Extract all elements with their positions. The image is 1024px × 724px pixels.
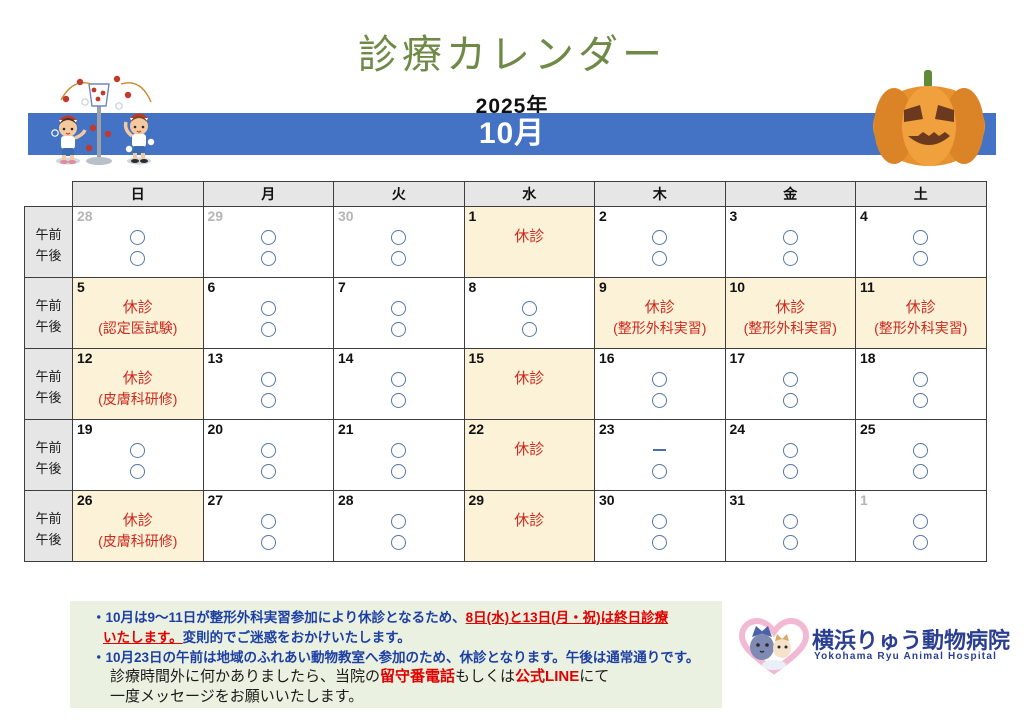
note-3-text-c: にて	[579, 668, 609, 685]
closed-reason: (皮膚科研修)	[73, 389, 203, 410]
day-number: 12	[77, 351, 93, 365]
pm-availability	[726, 460, 856, 481]
pm-availability	[204, 389, 334, 410]
calendar-day-cell[interactable]: 24	[725, 420, 856, 491]
day-number: 5	[77, 280, 85, 294]
pm-availability	[334, 460, 464, 481]
note-3-line-2: 一度メッセージをお願いいたします。	[110, 687, 363, 707]
availability-marks	[726, 368, 856, 410]
closed-reason: (整形外科実習)	[856, 318, 986, 339]
ampm-label-cell: 午前午後	[25, 278, 73, 349]
pm-label: 午後	[25, 529, 72, 550]
pm-availability	[856, 460, 986, 481]
circle-mark	[913, 251, 928, 266]
day-number: 1	[860, 493, 868, 507]
pm-availability	[73, 247, 203, 268]
day-number: 17	[730, 351, 746, 365]
day-number: 21	[338, 422, 354, 436]
am-availability	[204, 439, 334, 460]
weekday-header-sat: 土	[856, 182, 987, 207]
circle-mark	[522, 301, 537, 316]
day-number: 29	[469, 493, 485, 507]
circle-mark	[261, 301, 276, 316]
pm-availability	[856, 247, 986, 268]
day-number: 7	[338, 280, 346, 294]
availability-marks	[856, 439, 986, 481]
note-3-line-1: 診療時間外に何かありましたら、当院の留守番電話もしくは公式LINEにて	[110, 667, 609, 687]
am-availability	[595, 226, 725, 247]
circle-mark	[652, 372, 667, 387]
day-number: 3	[730, 209, 738, 223]
circle-mark	[783, 514, 798, 529]
am-availability	[856, 510, 986, 531]
closed-notice: 休診	[465, 510, 595, 531]
circle-mark	[130, 443, 145, 458]
circle-mark	[261, 535, 276, 550]
calendar-week-row: 午前午後5休診(認定医試験)6789休診(整形外科実習)10休診(整形外科実習)…	[25, 278, 987, 349]
note-3-text-a: 診療時間外に何かありましたら、当院の	[110, 668, 380, 685]
am-availability	[204, 510, 334, 531]
note-2: ・10月23日の午前は地域のふれあい動物教室へ参加のため、休診となります。午後は…	[92, 648, 699, 668]
availability-marks	[726, 439, 856, 481]
pm-availability	[726, 247, 856, 268]
circle-mark	[130, 464, 145, 479]
day-number: 14	[338, 351, 354, 365]
hospital-name-en: Yokohama Ryu Animal Hospital	[814, 651, 997, 662]
day-number: 18	[860, 351, 876, 365]
note-3-red-line: 公式LINE	[515, 668, 579, 685]
closed-notice: 休診(整形外科実習)	[856, 297, 986, 339]
circle-mark	[652, 230, 667, 245]
circle-mark	[391, 514, 406, 529]
am-label: 午前	[25, 508, 72, 529]
am-availability	[856, 226, 986, 247]
circle-mark	[913, 535, 928, 550]
day-number: 6	[208, 280, 216, 294]
day-number: 13	[208, 351, 224, 365]
circle-mark	[783, 393, 798, 408]
circle-mark	[913, 443, 928, 458]
circle-mark	[783, 372, 798, 387]
weekday-header-thu: 木	[595, 182, 726, 207]
note-1-highlight-2: いたします。	[103, 630, 183, 645]
calendar-day-cell[interactable]: 23	[595, 420, 726, 491]
circle-mark	[913, 372, 928, 387]
am-availability	[726, 226, 856, 247]
availability-marks	[465, 297, 595, 339]
circle-mark	[391, 393, 406, 408]
closed-label: 休診	[726, 297, 856, 318]
calendar-day-cell[interactable]: 10休診(整形外科実習)	[725, 278, 856, 349]
calendar-day-cell[interactable]: 29休診	[464, 491, 595, 562]
day-number: 10	[730, 280, 746, 294]
am-availability	[334, 368, 464, 389]
day-number: 2	[599, 209, 607, 223]
circle-mark	[783, 251, 798, 266]
day-number: 11	[860, 280, 875, 294]
availability-marks	[856, 226, 986, 268]
pm-availability	[73, 460, 203, 481]
calendar-day-cell[interactable]: 15休診	[464, 349, 595, 420]
day-number: 9	[599, 280, 607, 294]
am-label: 午前	[25, 224, 72, 245]
closed-label: 休診	[465, 226, 595, 247]
availability-marks	[334, 510, 464, 552]
day-number: 8	[469, 280, 477, 294]
day-number: 26	[77, 493, 93, 507]
calendar-day-cell[interactable]: 30	[595, 491, 726, 562]
note-1-line-1: ・10月は9〜11日が整形外科実習参加により休診となるため、8日(水)と13日(…	[92, 608, 668, 628]
am-availability	[595, 439, 725, 460]
availability-marks	[334, 368, 464, 410]
calendar-week-row: 午前午後2829301休診234	[25, 207, 987, 278]
availability-marks	[726, 510, 856, 552]
pm-availability	[595, 460, 725, 481]
calendar-day-cell[interactable]: 17	[725, 349, 856, 420]
availability-marks	[204, 297, 334, 339]
am-availability	[856, 439, 986, 460]
circle-mark	[391, 464, 406, 479]
circle-mark	[522, 322, 537, 337]
calendar-day-cell[interactable]: 14	[334, 349, 465, 420]
availability-marks	[595, 368, 725, 410]
pm-availability	[334, 247, 464, 268]
closed-notice: 休診(皮膚科研修)	[73, 510, 203, 552]
calendar-day-cell[interactable]: 29	[203, 207, 334, 278]
availability-marks	[204, 368, 334, 410]
day-number: 20	[208, 422, 224, 436]
closed-label: 休診	[465, 510, 595, 531]
calendar-day-cell[interactable]: 25	[856, 420, 987, 491]
jack-o-lantern-icon	[868, 66, 990, 170]
availability-marks	[73, 226, 203, 268]
circle-mark	[652, 514, 667, 529]
circle-mark	[652, 393, 667, 408]
circle-mark	[391, 322, 406, 337]
day-number: 28	[338, 493, 354, 507]
availability-marks	[334, 439, 464, 481]
pm-label: 午後	[25, 245, 72, 266]
pm-availability	[726, 531, 856, 552]
calendar-day-cell[interactable]: 6	[203, 278, 334, 349]
closed-label: 休診	[73, 368, 203, 389]
note-1-text-a: ・10月は9〜11日が整形外科実習参加により休診となるため、	[92, 610, 466, 625]
day-number: 31	[730, 493, 746, 507]
calendar-day-cell[interactable]: 22休診	[464, 420, 595, 491]
weekday-header-wed: 水	[464, 182, 595, 207]
circle-mark	[913, 514, 928, 529]
closed-reason: (皮膚科研修)	[73, 531, 203, 552]
calendar-day-cell[interactable]: 30	[334, 207, 465, 278]
note-3-text-b: もしくは	[455, 668, 515, 685]
circle-mark	[913, 393, 928, 408]
am-availability	[856, 368, 986, 389]
calendar-day-cell[interactable]: 12休診(皮膚科研修)	[73, 349, 204, 420]
circle-mark	[913, 464, 928, 479]
note-1-highlight-1: 8日(水)と13日(月・祝)は終日診療	[466, 610, 669, 625]
hospital-mascot-icon	[738, 617, 810, 675]
circle-mark	[391, 443, 406, 458]
day-number: 19	[77, 422, 93, 436]
calendar-day-cell[interactable]: 18	[856, 349, 987, 420]
calendar-day-cell[interactable]: 7	[334, 278, 465, 349]
circle-mark	[261, 372, 276, 387]
pm-availability	[204, 318, 334, 339]
closed-notice: 休診(皮膚科研修)	[73, 368, 203, 410]
day-number: 30	[599, 493, 615, 507]
pm-label: 午後	[25, 316, 72, 337]
calendar-day-cell[interactable]: 1	[856, 491, 987, 562]
pm-label: 午後	[25, 387, 72, 408]
weekday-header-tue: 火	[334, 182, 465, 207]
pm-availability	[726, 389, 856, 410]
calendar-day-cell[interactable]: 27	[203, 491, 334, 562]
circle-mark	[783, 230, 798, 245]
closed-notice: 休診	[465, 368, 595, 389]
circle-mark	[261, 393, 276, 408]
calendar-header: 診療カレンダー 2025年 10月	[0, 0, 1024, 180]
pm-label: 午後	[25, 458, 72, 479]
circle-mark	[783, 443, 798, 458]
am-availability	[204, 226, 334, 247]
calendar-day-cell[interactable]: 21	[334, 420, 465, 491]
availability-marks	[856, 368, 986, 410]
circle-mark	[261, 443, 276, 458]
ampm-label-cell: 午前午後	[25, 491, 73, 562]
calendar-day-cell[interactable]: 11休診(整形外科実習)	[856, 278, 987, 349]
weekday-header-fri: 金	[725, 182, 856, 207]
circle-mark	[261, 514, 276, 529]
closed-label: 休診	[856, 297, 986, 318]
am-availability	[595, 510, 725, 531]
am-availability	[334, 297, 464, 318]
availability-marks	[595, 439, 725, 481]
circle-mark	[913, 230, 928, 245]
day-number: 4	[860, 209, 868, 223]
closed-label: 休診	[73, 510, 203, 531]
day-number: 16	[599, 351, 615, 365]
availability-marks	[73, 439, 203, 481]
circle-mark	[391, 535, 406, 550]
circle-mark	[391, 230, 406, 245]
am-availability	[465, 297, 595, 318]
day-number: 30	[338, 209, 354, 223]
closed-notice: 休診(整形外科実習)	[595, 297, 725, 339]
circle-mark	[130, 230, 145, 245]
circle-mark	[261, 251, 276, 266]
closed-notice: 休診(認定医試験)	[73, 297, 203, 339]
availability-marks	[856, 510, 986, 552]
note-3-red-voicemail: 留守番電話	[380, 668, 455, 685]
pm-availability	[856, 389, 986, 410]
availability-marks	[334, 226, 464, 268]
calendar-day-cell[interactable]: 9休診(整形外科実習)	[595, 278, 726, 349]
availability-marks	[595, 226, 725, 268]
calendar-day-cell[interactable]: 20	[203, 420, 334, 491]
calendar-day-cell[interactable]: 8	[464, 278, 595, 349]
am-availability	[726, 439, 856, 460]
clinic-calendar-table: 日 月 火 水 木 金 土 午前午後2829301休診234午前午後5休診(認定…	[24, 181, 987, 562]
calendar-day-cell[interactable]: 26休診(皮膚科研修)	[73, 491, 204, 562]
calendar-week-row: 午前午後19202122休診232425	[25, 420, 987, 491]
calendar-day-cell[interactable]: 5休診(認定医試験)	[73, 278, 204, 349]
am-availability	[73, 226, 203, 247]
pm-availability	[334, 531, 464, 552]
am-availability	[334, 510, 464, 531]
calendar-day-cell[interactable]: 31	[725, 491, 856, 562]
weekday-header-row: 日 月 火 水 木 金 土	[25, 182, 987, 207]
day-number: 27	[208, 493, 224, 507]
notes-box: ・10月は9〜11日が整形外科実習参加により休診となるため、8日(水)と13日(…	[70, 601, 722, 708]
calendar-day-cell[interactable]: 4	[856, 207, 987, 278]
am-label: 午前	[25, 366, 72, 387]
am-availability	[595, 368, 725, 389]
availability-marks	[595, 510, 725, 552]
ampm-label-cell: 午前午後	[25, 207, 73, 278]
circle-mark	[130, 251, 145, 266]
closed-label: 休診	[465, 439, 595, 460]
circle-mark	[783, 535, 798, 550]
circle-mark	[391, 251, 406, 266]
calendar-day-cell[interactable]: 3	[725, 207, 856, 278]
pm-availability	[204, 460, 334, 481]
am-availability	[73, 439, 203, 460]
pm-availability	[595, 389, 725, 410]
hospital-logo: 横浜りゅう動物病院 Yokohama Ryu Animal Hospital	[738, 617, 1006, 679]
circle-mark	[261, 230, 276, 245]
am-availability	[334, 439, 464, 460]
calendar-week-row: 午前午後26休診(皮膚科研修)272829休診30311	[25, 491, 987, 562]
closed-notice: 休診	[465, 439, 595, 460]
closed-label: 休診	[73, 297, 203, 318]
am-label: 午前	[25, 437, 72, 458]
am-availability	[204, 368, 334, 389]
availability-marks	[334, 297, 464, 339]
day-number: 25	[860, 422, 876, 436]
circle-mark	[652, 464, 667, 479]
closed-reason: (整形外科実習)	[726, 318, 856, 339]
dash-mark	[653, 449, 666, 451]
pm-availability	[856, 531, 986, 552]
day-number: 24	[730, 422, 746, 436]
day-number: 1	[469, 209, 477, 223]
availability-marks	[204, 226, 334, 268]
circle-mark	[652, 251, 667, 266]
closed-reason: (認定医試験)	[73, 318, 203, 339]
day-number: 22	[469, 422, 485, 436]
am-availability	[334, 226, 464, 247]
closed-label: 休診	[465, 368, 595, 389]
day-number: 15	[469, 351, 485, 365]
circle-mark	[391, 301, 406, 316]
availability-marks	[204, 439, 334, 481]
circle-mark	[261, 322, 276, 337]
calendar-day-cell[interactable]: 19	[73, 420, 204, 491]
circle-mark	[391, 372, 406, 387]
pm-availability	[595, 247, 725, 268]
ampm-label-cell: 午前午後	[25, 420, 73, 491]
calendar-day-cell[interactable]: 1休診	[464, 207, 595, 278]
kids-tamaire-icon	[33, 62, 183, 174]
calendar-day-cell[interactable]: 16	[595, 349, 726, 420]
am-availability	[204, 297, 334, 318]
am-label: 午前	[25, 295, 72, 316]
circle-mark	[652, 535, 667, 550]
am-availability	[726, 510, 856, 531]
am-availability	[726, 368, 856, 389]
weekday-header-sun: 日	[73, 182, 204, 207]
calendar-day-cell[interactable]: 28	[73, 207, 204, 278]
circle-mark	[261, 464, 276, 479]
closed-reason: (整形外科実習)	[595, 318, 725, 339]
closed-label: 休診	[595, 297, 725, 318]
day-number: 28	[77, 209, 93, 223]
table-corner	[25, 182, 73, 207]
weekday-header-mon: 月	[203, 182, 334, 207]
closed-notice: 休診(整形外科実習)	[726, 297, 856, 339]
availability-marks	[204, 510, 334, 552]
day-number: 29	[208, 209, 224, 223]
calendar-day-cell[interactable]: 2	[595, 207, 726, 278]
ampm-label-cell: 午前午後	[25, 349, 73, 420]
calendar-day-cell[interactable]: 28	[334, 491, 465, 562]
pm-availability	[334, 318, 464, 339]
note-1-text-b: 変則的でご迷惑をおかけいたします。	[183, 630, 411, 645]
pm-availability	[465, 318, 595, 339]
availability-marks	[726, 226, 856, 268]
circle-mark	[783, 464, 798, 479]
pm-availability	[595, 531, 725, 552]
closed-notice: 休診	[465, 226, 595, 247]
pm-availability	[204, 531, 334, 552]
pm-availability	[204, 247, 334, 268]
note-1-line-2: いたします。変則的でご迷惑をおかけいたします。	[103, 628, 411, 648]
pm-availability	[334, 389, 464, 410]
calendar-week-row: 午前午後12休診(皮膚科研修)131415休診161718	[25, 349, 987, 420]
day-number: 23	[599, 422, 615, 436]
calendar-day-cell[interactable]: 13	[203, 349, 334, 420]
